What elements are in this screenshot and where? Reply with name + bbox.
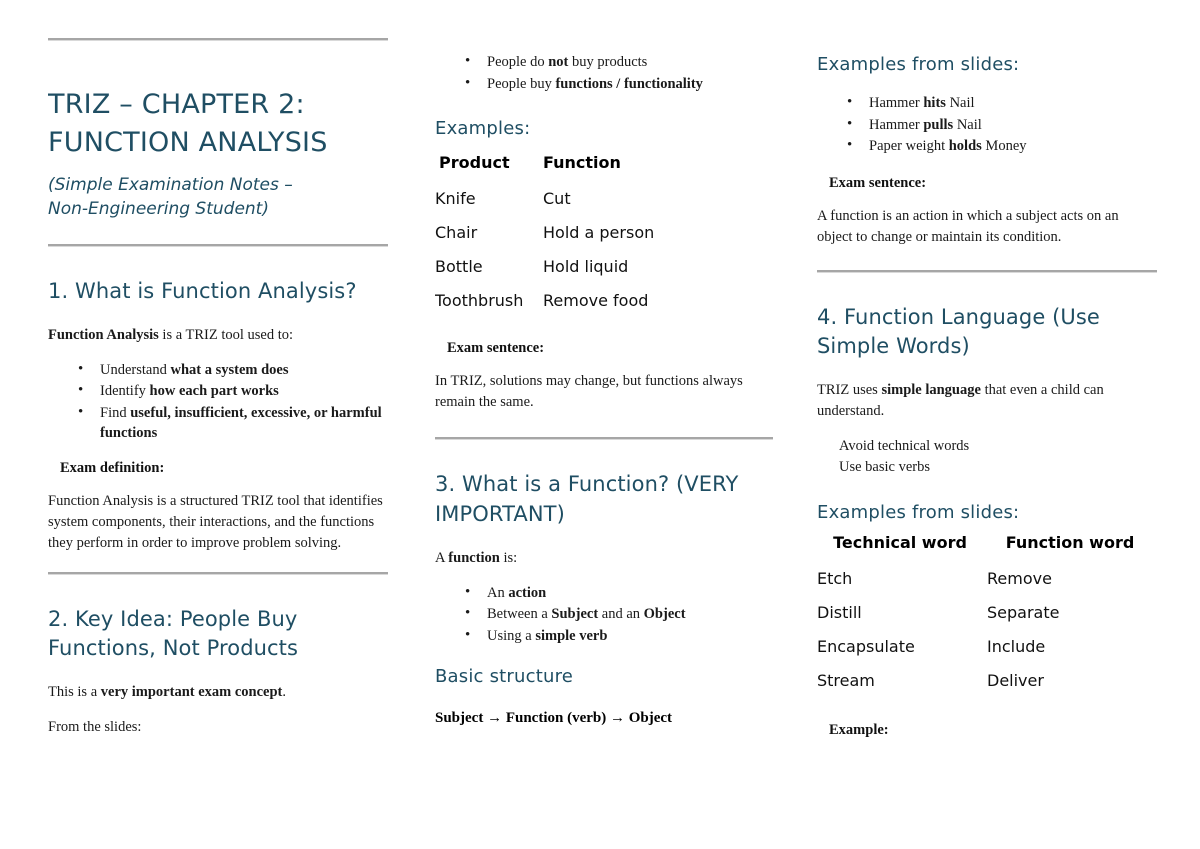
page-subtitle-line-1: (Simple Examination Notes – [48,173,388,198]
section4-para: TRIZ uses simple language that even a ch… [817,380,1157,422]
bullet-text-bold: holds [949,138,982,154]
column-header-function: Function [541,151,773,182]
bullet-text-tail: buy products [568,54,647,70]
document-page: TRIZ – CHAPTER 2: FUNCTION ANALYSIS (Sim… [0,0,1200,849]
simple-words-guidance: Avoid technical words Use basic verbs [839,436,1157,478]
exam-definition-text: Function Analysis is a structured TRIZ t… [48,491,388,554]
table-row: Toothbrush Remove food [435,284,773,318]
page-title-line-2: FUNCTION ANALYSIS [48,124,388,162]
table-row: Etch Remove [817,562,1157,596]
bullet-text-bold: simple verb [535,628,607,644]
table-header-row: Product Function [435,151,773,182]
basic-structure-heading: Basic structure [435,664,773,689]
bullet-text-bold: functions / functionality [555,76,702,92]
table-row: Chair Hold a person [435,216,773,250]
cell-function-word: Remove [987,562,1157,596]
list-item: People do not buy products [487,52,773,73]
section3-lead-bold: function [448,550,500,566]
bullet-text: Hammer [869,95,923,111]
cell-technical-word: Stream [817,664,987,698]
section3-lead-tail: is: [500,550,517,566]
cell-product: Toothbrush [435,284,541,318]
section2-para-1-tail: . [282,684,286,700]
list-item: Hammer hits Nail [869,93,1157,114]
bullet-text-tail: Nail [953,117,982,133]
bullet-text-bold: action [508,585,546,601]
divider-rule [48,244,388,247]
bullet-text-bold: Subject [551,606,598,622]
cell-function-word: Separate [987,596,1157,630]
divider-rule [817,270,1157,273]
technical-function-word-table: Technical word Function word Etch Remove… [817,531,1157,698]
bullet-text-bold-2: Object [644,606,686,622]
section-heading-1: 1. What is Function Analysis? [48,277,388,307]
cell-function-word: Deliver [987,664,1157,698]
list-item: Hammer pulls Nail [869,115,1157,136]
list-item: Find useful, insufficient, excessive, or… [100,403,388,444]
bullet-text: Identify [100,383,150,399]
examples-from-slides-heading: Examples from slides: [817,52,1157,77]
column-middle: People do not buy products People buy fu… [435,38,773,849]
bullet-text: Hammer [869,117,923,133]
slide-bullet-list: People do not buy products People buy fu… [435,52,773,94]
exam-sentence-text: A function is an action in which a subje… [817,206,1157,248]
list-item: Understand what a system does [100,360,388,381]
column-left: TRIZ – CHAPTER 2: FUNCTION ANALYSIS (Sim… [48,38,388,849]
column-header-product: Product [435,151,541,182]
table-row: Stream Deliver [817,664,1157,698]
exam-sentence-text: In TRIZ, solutions may change, but funct… [435,371,773,413]
section2-para-1-plain: This is a [48,684,101,700]
examples-heading: Examples: [435,116,773,141]
page-subtitle: (Simple Examination Notes – Non-Engineer… [48,173,388,222]
exam-definition-label: Exam definition: [60,460,388,477]
example-label: Example: [829,722,1157,739]
bullet-text-bold: useful, insufficient, excessive, or harm… [100,405,382,442]
bullet-text-bold: what a system does [170,362,288,378]
section2-para-2: From the slides: [48,717,388,738]
page-title-line-1: TRIZ – CHAPTER 2: [48,86,388,124]
section1-lead-bold: Function Analysis [48,327,159,343]
section3-bullet-list: An action Between a Subject and an Objec… [435,583,773,647]
three-column-layout: TRIZ – CHAPTER 2: FUNCTION ANALYSIS (Sim… [0,0,1200,849]
bullet-text-tail: and an [598,606,644,622]
exam-sentence-label: Exam sentence: [447,340,773,357]
cell-product: Chair [435,216,541,250]
cell-function-word: Include [987,630,1157,664]
bullet-text: Understand [100,362,170,378]
section-heading-4: 4. Function Language (Use Simple Words) [817,303,1157,363]
bullet-text-bold: how each part works [150,383,279,399]
bullet-text-bold: not [548,54,568,70]
cell-product: Knife [435,182,541,216]
list-item: Between a Subject and an Object [487,604,773,625]
section1-lead-rest: is a TRIZ tool used to: [159,327,293,343]
bullet-text: Between a [487,606,551,622]
product-function-table: Product Function Knife Cut Chair Hold a … [435,151,773,318]
section1-lead: Function Analysis is a TRIZ tool used to… [48,325,388,346]
bullet-text: People do [487,54,548,70]
bullet-text-bold: hits [923,95,946,111]
cell-function: Hold a person [541,216,773,250]
column-right: Examples from slides: Hammer hits Nail H… [817,38,1157,849]
guidance-line-2: Use basic verbs [839,457,1157,478]
section-heading-3: 3. What is a Function? (VERY IMPORTANT) [435,470,773,530]
bullet-text-tail: Nail [946,95,975,111]
bullet-text: Using a [487,628,535,644]
bullet-text-tail: Money [982,138,1027,154]
table-row: Knife Cut [435,182,773,216]
bullet-text: Find [100,405,130,421]
table-row: Encapsulate Include [817,630,1157,664]
section4-para-plain: TRIZ uses [817,382,881,398]
cell-technical-word: Encapsulate [817,630,987,664]
section1-bullet-list: Understand what a system does Identify h… [48,360,388,444]
section4-para-bold: simple language [881,382,981,398]
cell-product: Bottle [435,250,541,284]
bullet-text: People buy [487,76,555,92]
list-item: Identify how each part works [100,381,388,402]
cell-function: Remove food [541,284,773,318]
table-header-row: Technical word Function word [817,531,1157,562]
examples-from-slides-heading-2: Examples from slides: [817,500,1157,525]
bullet-text: Paper weight [869,138,949,154]
divider-rule [48,38,388,41]
list-item: People buy functions / functionality [487,74,773,95]
cell-technical-word: Distill [817,596,987,630]
bullet-text-bold: pulls [923,117,953,133]
section-heading-2: 2. Key Idea: People Buy Functions, Not P… [48,605,388,665]
list-item: An action [487,583,773,604]
cell-technical-word: Etch [817,562,987,596]
page-subtitle-line-2: Non-Engineering Student) [48,197,388,222]
divider-rule [48,572,388,575]
section2-para-1-bold: very important exam concept [101,684,283,700]
exam-sentence-label: Exam sentence: [829,175,1157,192]
guidance-line-1: Avoid technical words [839,436,1157,457]
column-header-technical-word: Technical word [817,531,987,562]
divider-rule [435,437,773,440]
page-title: TRIZ – CHAPTER 2: FUNCTION ANALYSIS [48,86,388,163]
section3-lead: A function is: [435,548,773,569]
table-row: Distill Separate [817,596,1157,630]
list-item: Using a simple verb [487,626,773,647]
example-bullet-list: Hammer hits Nail Hammer pulls Nail Paper… [817,93,1157,157]
column-header-function-word: Function word [987,531,1157,562]
cell-function: Hold liquid [541,250,773,284]
cell-function: Cut [541,182,773,216]
section2-para-1: This is a very important exam concept. [48,682,388,703]
bullet-text: An [487,585,508,601]
function-structure-line: Subject → Function (verb) → Object [435,710,773,727]
list-item: Paper weight holds Money [869,136,1157,157]
section3-lead-plain: A [435,550,448,566]
table-row: Bottle Hold liquid [435,250,773,284]
